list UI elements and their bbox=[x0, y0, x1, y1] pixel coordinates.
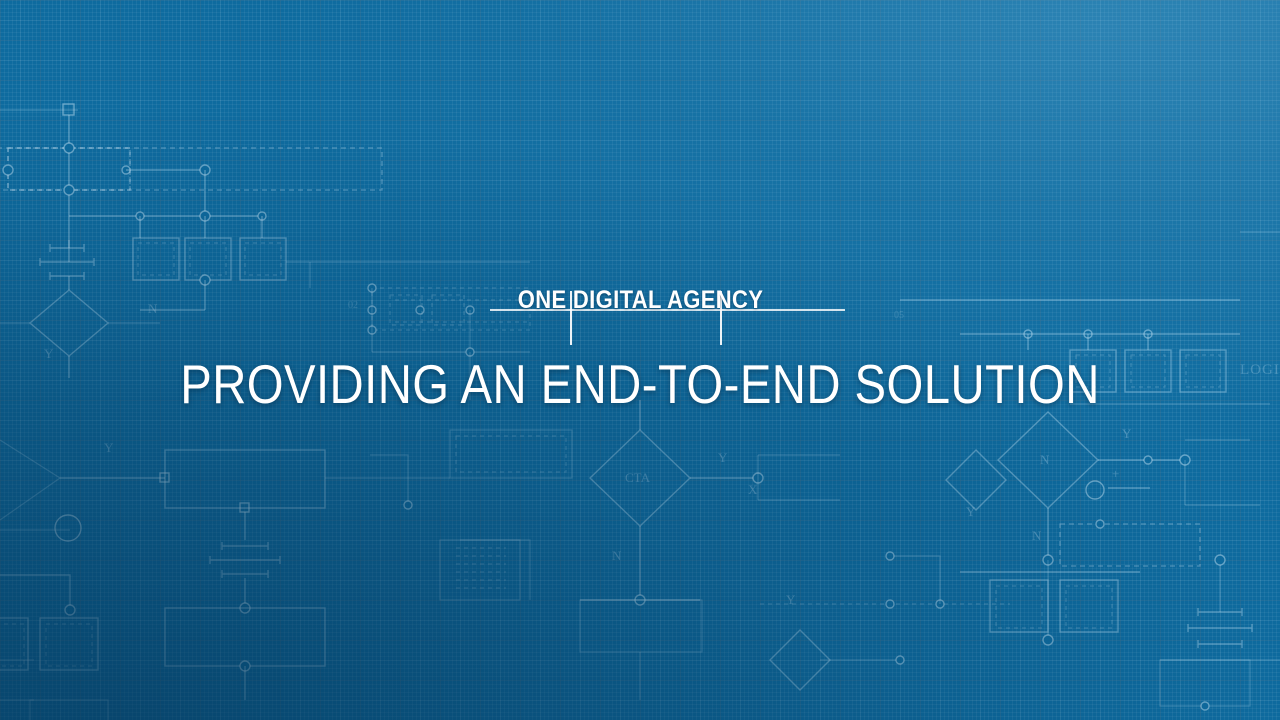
title-block: ONE DIGITAL AGENCY PROVIDING AN END-TO-E… bbox=[0, 278, 1280, 414]
svg-text:X: X bbox=[748, 482, 758, 497]
eyebrow-text: ONE DIGITAL AGENCY bbox=[505, 278, 775, 322]
page-title: PROVIDING AN END-TO-END SOLUTION bbox=[90, 354, 1191, 414]
svg-text:Y: Y bbox=[1122, 426, 1132, 441]
eyebrow-wrap: ONE DIGITAL AGENCY bbox=[0, 278, 1280, 340]
svg-text:Y: Y bbox=[104, 440, 114, 455]
svg-text:N: N bbox=[1032, 528, 1042, 543]
svg-text:N: N bbox=[612, 548, 622, 563]
slide-canvas: .sl { fill:none; stroke:#bcdff3; stroke-… bbox=[0, 0, 1280, 720]
svg-text:CTA: CTA bbox=[625, 470, 651, 485]
svg-text:+: + bbox=[1112, 466, 1119, 481]
svg-text:Y: Y bbox=[718, 450, 728, 465]
svg-text:Y: Y bbox=[966, 504, 976, 519]
svg-text:Y: Y bbox=[786, 592, 796, 607]
svg-text:N: N bbox=[1040, 452, 1050, 467]
